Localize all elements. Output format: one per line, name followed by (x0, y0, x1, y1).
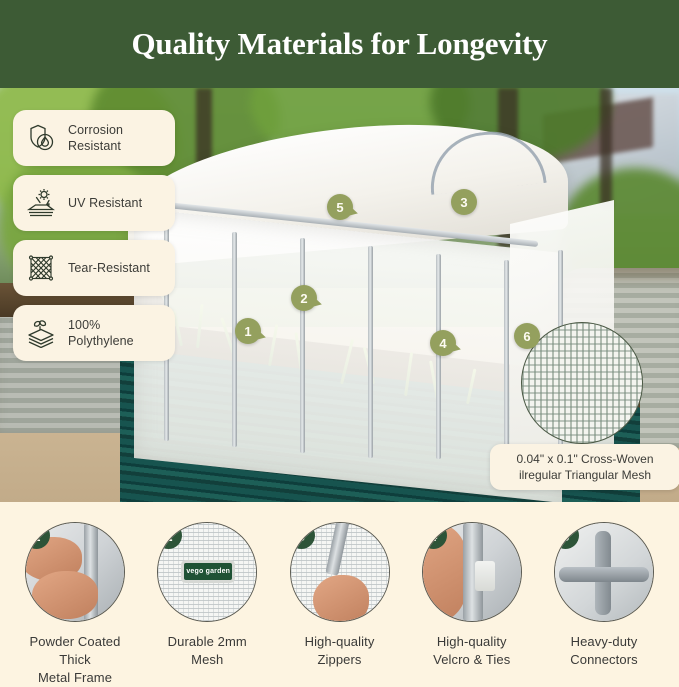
hand-on-metal-frame-photo: 1 (25, 522, 125, 622)
frame-pole (232, 232, 237, 447)
feature-number: 5 (562, 528, 570, 544)
label-line-2: Metal Frame (14, 669, 136, 687)
cross-connector-photo: 5 (554, 522, 654, 622)
hero-marker-number: 5 (336, 200, 343, 215)
frame-pole (368, 246, 373, 458)
feature-badge-uv-resistant[interactable]: UV Resistant (13, 175, 175, 231)
label-line-2: Mesh (168, 651, 247, 669)
hero-marker-number: 2 (300, 291, 307, 306)
hero-marker-number: 4 (439, 336, 446, 351)
bottom-feature-label: Heavy-duty Connectors (570, 633, 637, 669)
layers-leaf-icon (23, 316, 59, 350)
feature-badge-label: Tear-Resistant (68, 260, 150, 276)
hero-marker-2[interactable]: 2 (291, 285, 317, 311)
hero-product-photo: 1 2 3 4 5 6 0.04" x 0.1" Cross-Woven ilr… (0, 88, 679, 502)
frame-pole (300, 238, 305, 453)
hero-marker-6[interactable]: 6 (514, 323, 540, 349)
hero-marker-1[interactable]: 1 (235, 318, 261, 344)
mesh-caption-line1: 0.04" x 0.1" Cross-Woven (499, 451, 671, 467)
bottom-feature-label: High-quality Zippers (305, 633, 375, 669)
bottom-feature-zippers[interactable]: 3 High-quality Zippers (279, 522, 401, 679)
mesh-caption-line2: ilregular Triangular Mesh (499, 467, 671, 483)
greenhouse-cover (128, 128, 568, 458)
hero-marker-number: 3 (460, 195, 467, 210)
header-banner: Quality Materials for Longevity (0, 0, 679, 88)
velcro-strap (475, 561, 495, 591)
bottom-feature-metal-frame[interactable]: 1 Powder Coated Thick Metal Frame (14, 522, 136, 679)
label-line-2: Connectors (570, 651, 637, 669)
hero-marker-5[interactable]: 5 (327, 194, 353, 220)
brand-tag-text: vego garden (186, 568, 230, 575)
bottom-feature-label: Durable 2mm Mesh (168, 633, 247, 669)
bottom-feature-label: High-quality Velcro & Ties (433, 633, 510, 669)
feature-badge-list: Corrosion Resistant UV Resistant (13, 110, 175, 361)
mesh-net-icon (23, 251, 59, 285)
feature-badge-polythylene[interactable]: 100% Polythylene (13, 305, 175, 361)
hand-shape (32, 571, 98, 619)
feature-badge-label: UV Resistant (68, 195, 142, 211)
hero-marker-4[interactable]: 4 (430, 330, 456, 356)
label-line-1: Powder Coated Thick (14, 633, 136, 669)
label-line-1: Durable 2mm (168, 633, 247, 651)
infographic-page: Quality Materials for Longevity (0, 0, 679, 679)
feature-badge-tear-resistant[interactable]: Tear-Resistant (13, 240, 175, 296)
label-line-1: High-quality (305, 633, 375, 651)
label-line-1: High-quality (433, 633, 510, 651)
hand-pulling-zipper-photo: 3 (290, 522, 390, 622)
feature-number: 1 (33, 528, 41, 544)
hero-marker-number: 6 (523, 329, 530, 344)
feature-number-badge: 3 (290, 522, 315, 549)
label-line-2: Velcro & Ties (433, 651, 510, 669)
frame-pole (504, 260, 509, 458)
mesh-callout-caption: 0.04" x 0.1" Cross-Woven ilregular Trian… (490, 444, 679, 490)
feature-badge-corrosion-resistant[interactable]: Corrosion Resistant (13, 110, 175, 166)
feature-badge-label: 100% Polythylene (68, 317, 165, 349)
bottom-feature-connectors[interactable]: 5 Heavy-duty Connectors (543, 522, 665, 679)
feature-number: 3 (297, 528, 305, 544)
hand-shape (313, 575, 369, 622)
feature-badge-label: Corrosion Resistant (68, 122, 165, 154)
hero-marker-number: 1 (244, 324, 251, 339)
shield-droplet-icon (23, 121, 59, 155)
frame-pole (436, 254, 441, 459)
brand-tag: vego garden (184, 563, 232, 580)
feature-number: 2 (165, 528, 173, 544)
feature-number: 4 (429, 528, 437, 544)
label-line-1: Heavy-duty (570, 633, 637, 651)
connector-horizontal-arm (559, 567, 649, 582)
mesh-zoom-circle (521, 322, 643, 444)
sun-uv-icon (23, 186, 59, 220)
bottom-feature-mesh[interactable]: vego garden 2 Durable 2mm Mesh (146, 522, 268, 679)
velcro-strap-on-pole-photo: 4 (422, 522, 522, 622)
bottom-feature-velcro-ties[interactable]: 4 High-quality Velcro & Ties (411, 522, 533, 679)
mesh-with-brand-tag-photo: vego garden 2 (157, 522, 257, 622)
tree-trunk (600, 88, 612, 208)
label-line-2: Zippers (305, 651, 375, 669)
page-title: Quality Materials for Longevity (132, 26, 548, 62)
feature-number-badge: 4 (422, 522, 447, 549)
hero-marker-3[interactable]: 3 (451, 189, 477, 215)
bottom-feature-strip: 1 Powder Coated Thick Metal Frame vego g… (0, 502, 679, 679)
